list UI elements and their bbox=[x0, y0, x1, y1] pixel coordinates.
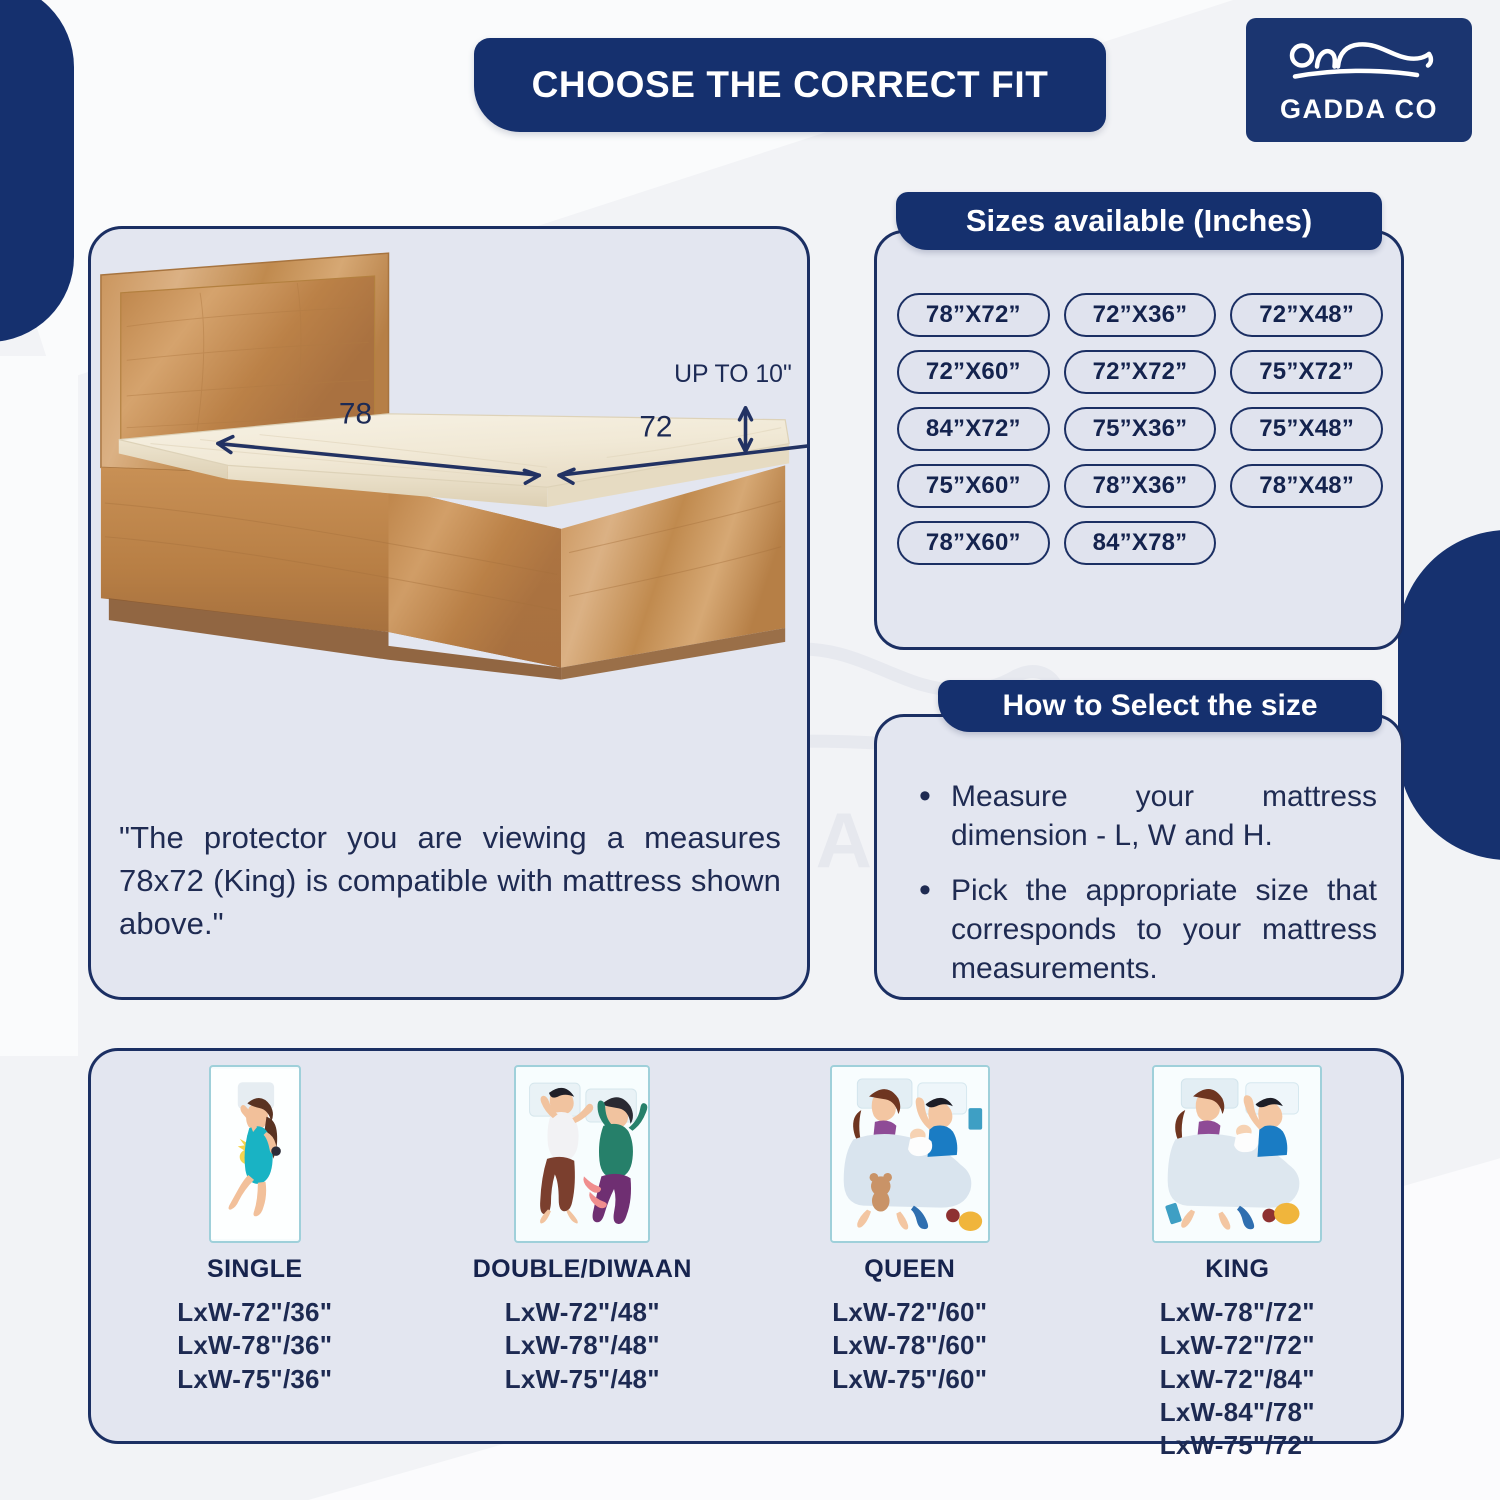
category-title: DOUBLE/DIWAAN bbox=[473, 1255, 692, 1284]
sizes-available-tab-label: Sizes available (Inches) bbox=[966, 203, 1312, 239]
dimension-line: LxW-75"/48" bbox=[505, 1363, 660, 1396]
category-title: SINGLE bbox=[207, 1255, 302, 1284]
list-item: Pick the appropriate size that correspon… bbox=[913, 871, 1377, 988]
category-dimensions: LxW-78"/72" LxW-72"/72" LxW-72"/84" LxW-… bbox=[1160, 1296, 1315, 1462]
bed-illustration: 78 72 UP TO 10" bbox=[91, 229, 807, 789]
size-pill[interactable]: 75”X60” bbox=[897, 464, 1050, 508]
category-queen: QUEEN LxW-72"/60" LxW-78"/60" LxW-75"/60… bbox=[746, 1051, 1074, 1462]
categories-row: SINGLE LxW-72"/36" LxW-78"/36" LxW-75"/3… bbox=[91, 1051, 1401, 1441]
size-pill[interactable]: 75”X48” bbox=[1230, 407, 1383, 451]
single-sleeper-icon bbox=[211, 1065, 299, 1243]
size-pill[interactable]: 78”X72” bbox=[897, 293, 1050, 337]
size-pill[interactable]: 84”X72” bbox=[897, 407, 1050, 451]
size-pill[interactable]: 78”X60” bbox=[897, 521, 1050, 565]
how-to-select-list: Measure your mattress dimension - L, W a… bbox=[913, 777, 1377, 988]
dimension-line: LxW-75"/72" bbox=[1160, 1429, 1315, 1462]
page-title-text: CHOOSE THE CORRECT FIT bbox=[532, 64, 1049, 106]
size-pill[interactable]: 78”X36” bbox=[1064, 464, 1217, 508]
dimension-line: LxW-72"/60" bbox=[832, 1296, 987, 1329]
category-title: KING bbox=[1205, 1255, 1269, 1284]
size-pill[interactable]: 72”X72” bbox=[1064, 350, 1217, 394]
family-with-baby-icon bbox=[832, 1065, 988, 1243]
dimension-line: LxW-78"/60" bbox=[832, 1329, 987, 1362]
bed-width-label: 72 bbox=[639, 411, 672, 444]
size-pill[interactable]: 84”X78” bbox=[1064, 521, 1217, 565]
dimension-line: LxW-72"/36" bbox=[177, 1296, 332, 1329]
dimension-line: LxW-84"/78" bbox=[1160, 1396, 1315, 1429]
compatibility-quote: "The protector you are viewing a measure… bbox=[119, 817, 781, 945]
dimension-line: LxW-75"/36" bbox=[177, 1363, 332, 1396]
size-pill-placeholder bbox=[1230, 521, 1383, 565]
size-pill[interactable]: 72”X60” bbox=[897, 350, 1050, 394]
how-to-select-panel: Measure your mattress dimension - L, W a… bbox=[874, 714, 1404, 1000]
size-pill[interactable]: 72”X36” bbox=[1064, 293, 1217, 337]
couple-sleeper-illustration bbox=[514, 1065, 650, 1243]
category-dimensions: LxW-72"/36" LxW-78"/36" LxW-75"/36" bbox=[177, 1296, 332, 1396]
mattress-sleeper-logo-icon bbox=[1284, 36, 1434, 92]
size-pill[interactable]: 72”X48” bbox=[1230, 293, 1383, 337]
dimension-line: LxW-78"/72" bbox=[1160, 1296, 1315, 1329]
size-pill[interactable]: 78”X48” bbox=[1230, 464, 1383, 508]
category-double-diwaan: DOUBLE/DIWAAN LxW-72"/48" LxW-78"/48" Lx… bbox=[419, 1051, 747, 1462]
sizes-available-panel: 78”X72” 72”X36” 72”X48” 72”X60” 72”X72” … bbox=[874, 230, 1404, 650]
couple-sleeper-icon bbox=[516, 1065, 648, 1243]
dimension-line: LxW-72"/72" bbox=[1160, 1329, 1315, 1362]
navy-accent-right-shape bbox=[1398, 530, 1500, 860]
page-title: CHOOSE THE CORRECT FIT bbox=[474, 38, 1106, 132]
sizes-grid: 78”X72” 72”X36” 72”X48” 72”X60” 72”X72” … bbox=[897, 293, 1383, 565]
dimension-line: LxW-78"/36" bbox=[177, 1329, 332, 1362]
category-dimensions: LxW-72"/60" LxW-78"/60" LxW-75"/60" bbox=[832, 1296, 987, 1396]
size-pill[interactable]: 75”X36” bbox=[1064, 407, 1217, 451]
dimension-line: LxW-75"/60" bbox=[832, 1363, 987, 1396]
family-with-baby-wide-icon bbox=[1154, 1065, 1320, 1243]
bed-length-label: 78 bbox=[339, 398, 372, 431]
dimension-line: LxW-78"/48" bbox=[505, 1329, 660, 1362]
single-sleeper-illustration bbox=[209, 1065, 301, 1243]
sizes-available-tab: Sizes available (Inches) bbox=[896, 192, 1382, 250]
how-to-select-tab-label: How to Select the size bbox=[1002, 689, 1317, 723]
category-king: KING LxW-78"/72" LxW-72"/72" LxW-72"/84"… bbox=[1074, 1051, 1402, 1462]
background-left-block bbox=[0, 356, 78, 1056]
family-with-baby-wide-illustration bbox=[1152, 1065, 1322, 1243]
brand-logo-text: GADDA CO bbox=[1280, 94, 1438, 125]
family-with-baby-illustration bbox=[830, 1065, 990, 1243]
navy-accent-left-shape bbox=[0, 0, 74, 342]
how-to-select-tab: How to Select the size bbox=[938, 680, 1382, 732]
category-title: QUEEN bbox=[864, 1255, 955, 1284]
category-single: SINGLE LxW-72"/36" LxW-78"/36" LxW-75"/3… bbox=[91, 1051, 419, 1462]
bed-height-label: UP TO 10" bbox=[674, 361, 792, 388]
bed-illustration-svg: 78 72 UP TO 10" bbox=[91, 229, 807, 789]
dimension-line: LxW-72"/48" bbox=[505, 1296, 660, 1329]
list-item: Measure your mattress dimension - L, W a… bbox=[913, 777, 1377, 855]
brand-logo: GADDA CO bbox=[1246, 18, 1472, 142]
category-dimensions: LxW-72"/48" LxW-78"/48" LxW-75"/48" bbox=[505, 1296, 660, 1396]
dimension-line: LxW-72"/84" bbox=[1160, 1363, 1315, 1396]
bed-size-categories-panel: SINGLE LxW-72"/36" LxW-78"/36" LxW-75"/3… bbox=[88, 1048, 1404, 1444]
size-pill[interactable]: 75”X72” bbox=[1230, 350, 1383, 394]
bed-diagram-panel: 78 72 UP TO 10" "The protector you are v… bbox=[88, 226, 810, 1000]
